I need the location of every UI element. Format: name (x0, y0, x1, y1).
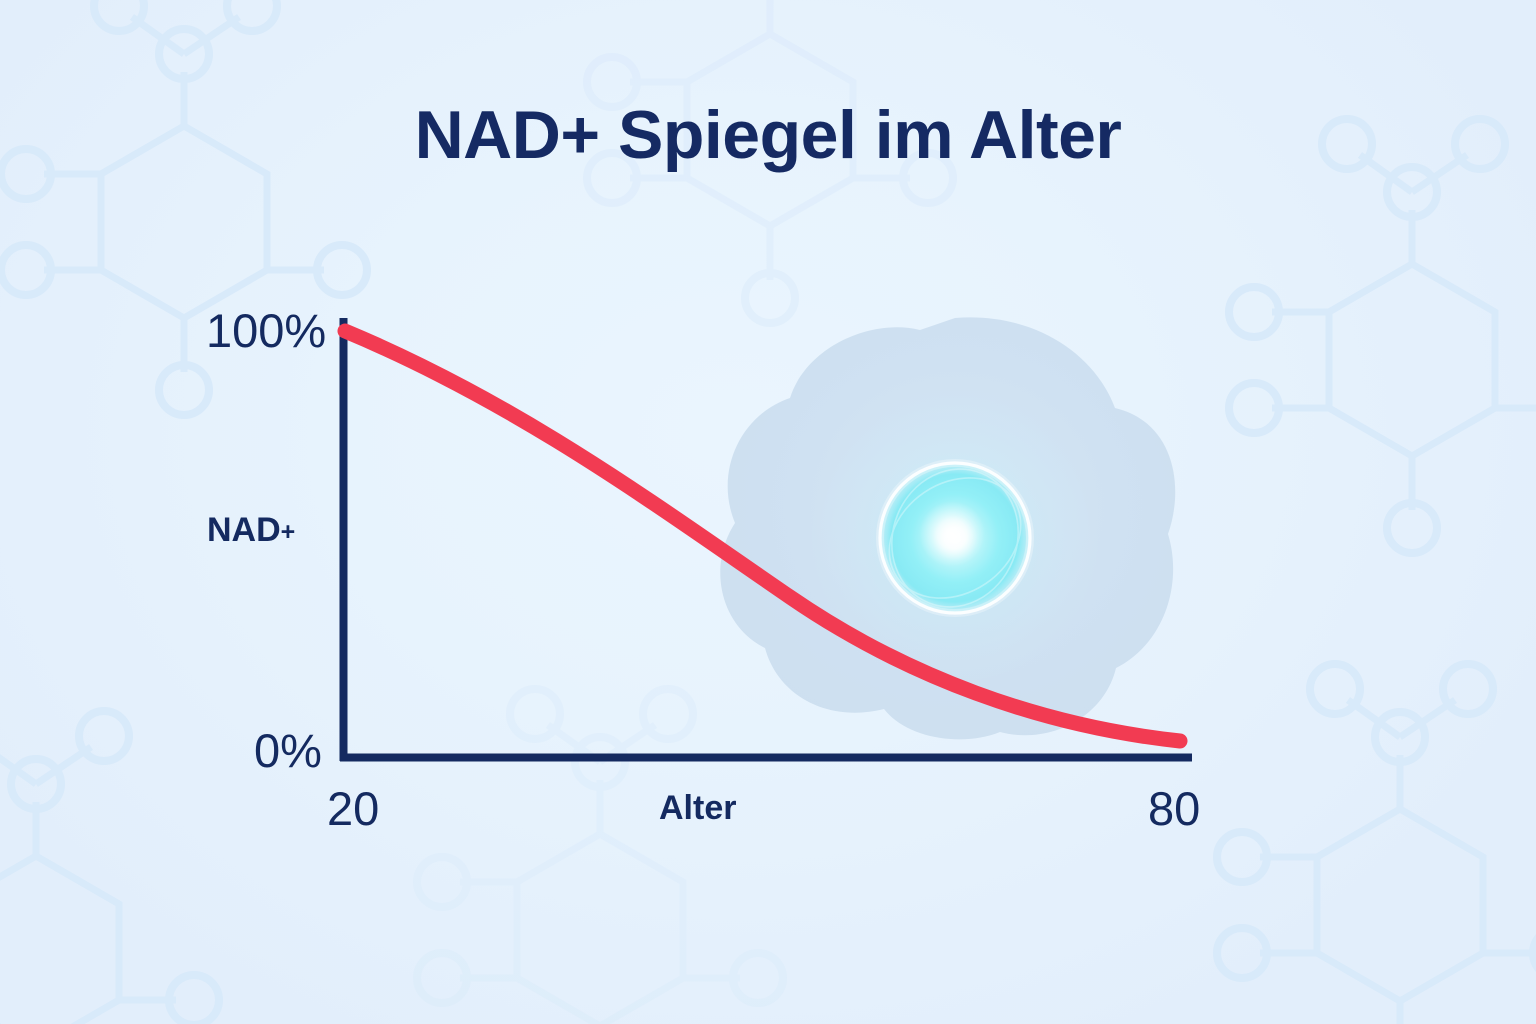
x-tick-label-left: 20 (327, 781, 379, 836)
y-axis-title: NAD+ (207, 511, 295, 550)
y-tick-label-bottom: 0% (254, 723, 322, 778)
y-tick-label-top: 100% (206, 303, 326, 358)
y-axis-title-text: NAD (207, 511, 281, 549)
page-title: NAD+ Spiegel im Alter (0, 96, 1536, 174)
chart-canvas: NAD+ Spiegel im Alter 100% 0% NAD+ 20 80… (0, 0, 1536, 1024)
nucleus-core (919, 501, 985, 567)
x-tick-label-right: 80 (1148, 781, 1200, 836)
x-axis-title: Alter (659, 789, 736, 828)
y-axis-title-superscript: + (281, 518, 296, 546)
